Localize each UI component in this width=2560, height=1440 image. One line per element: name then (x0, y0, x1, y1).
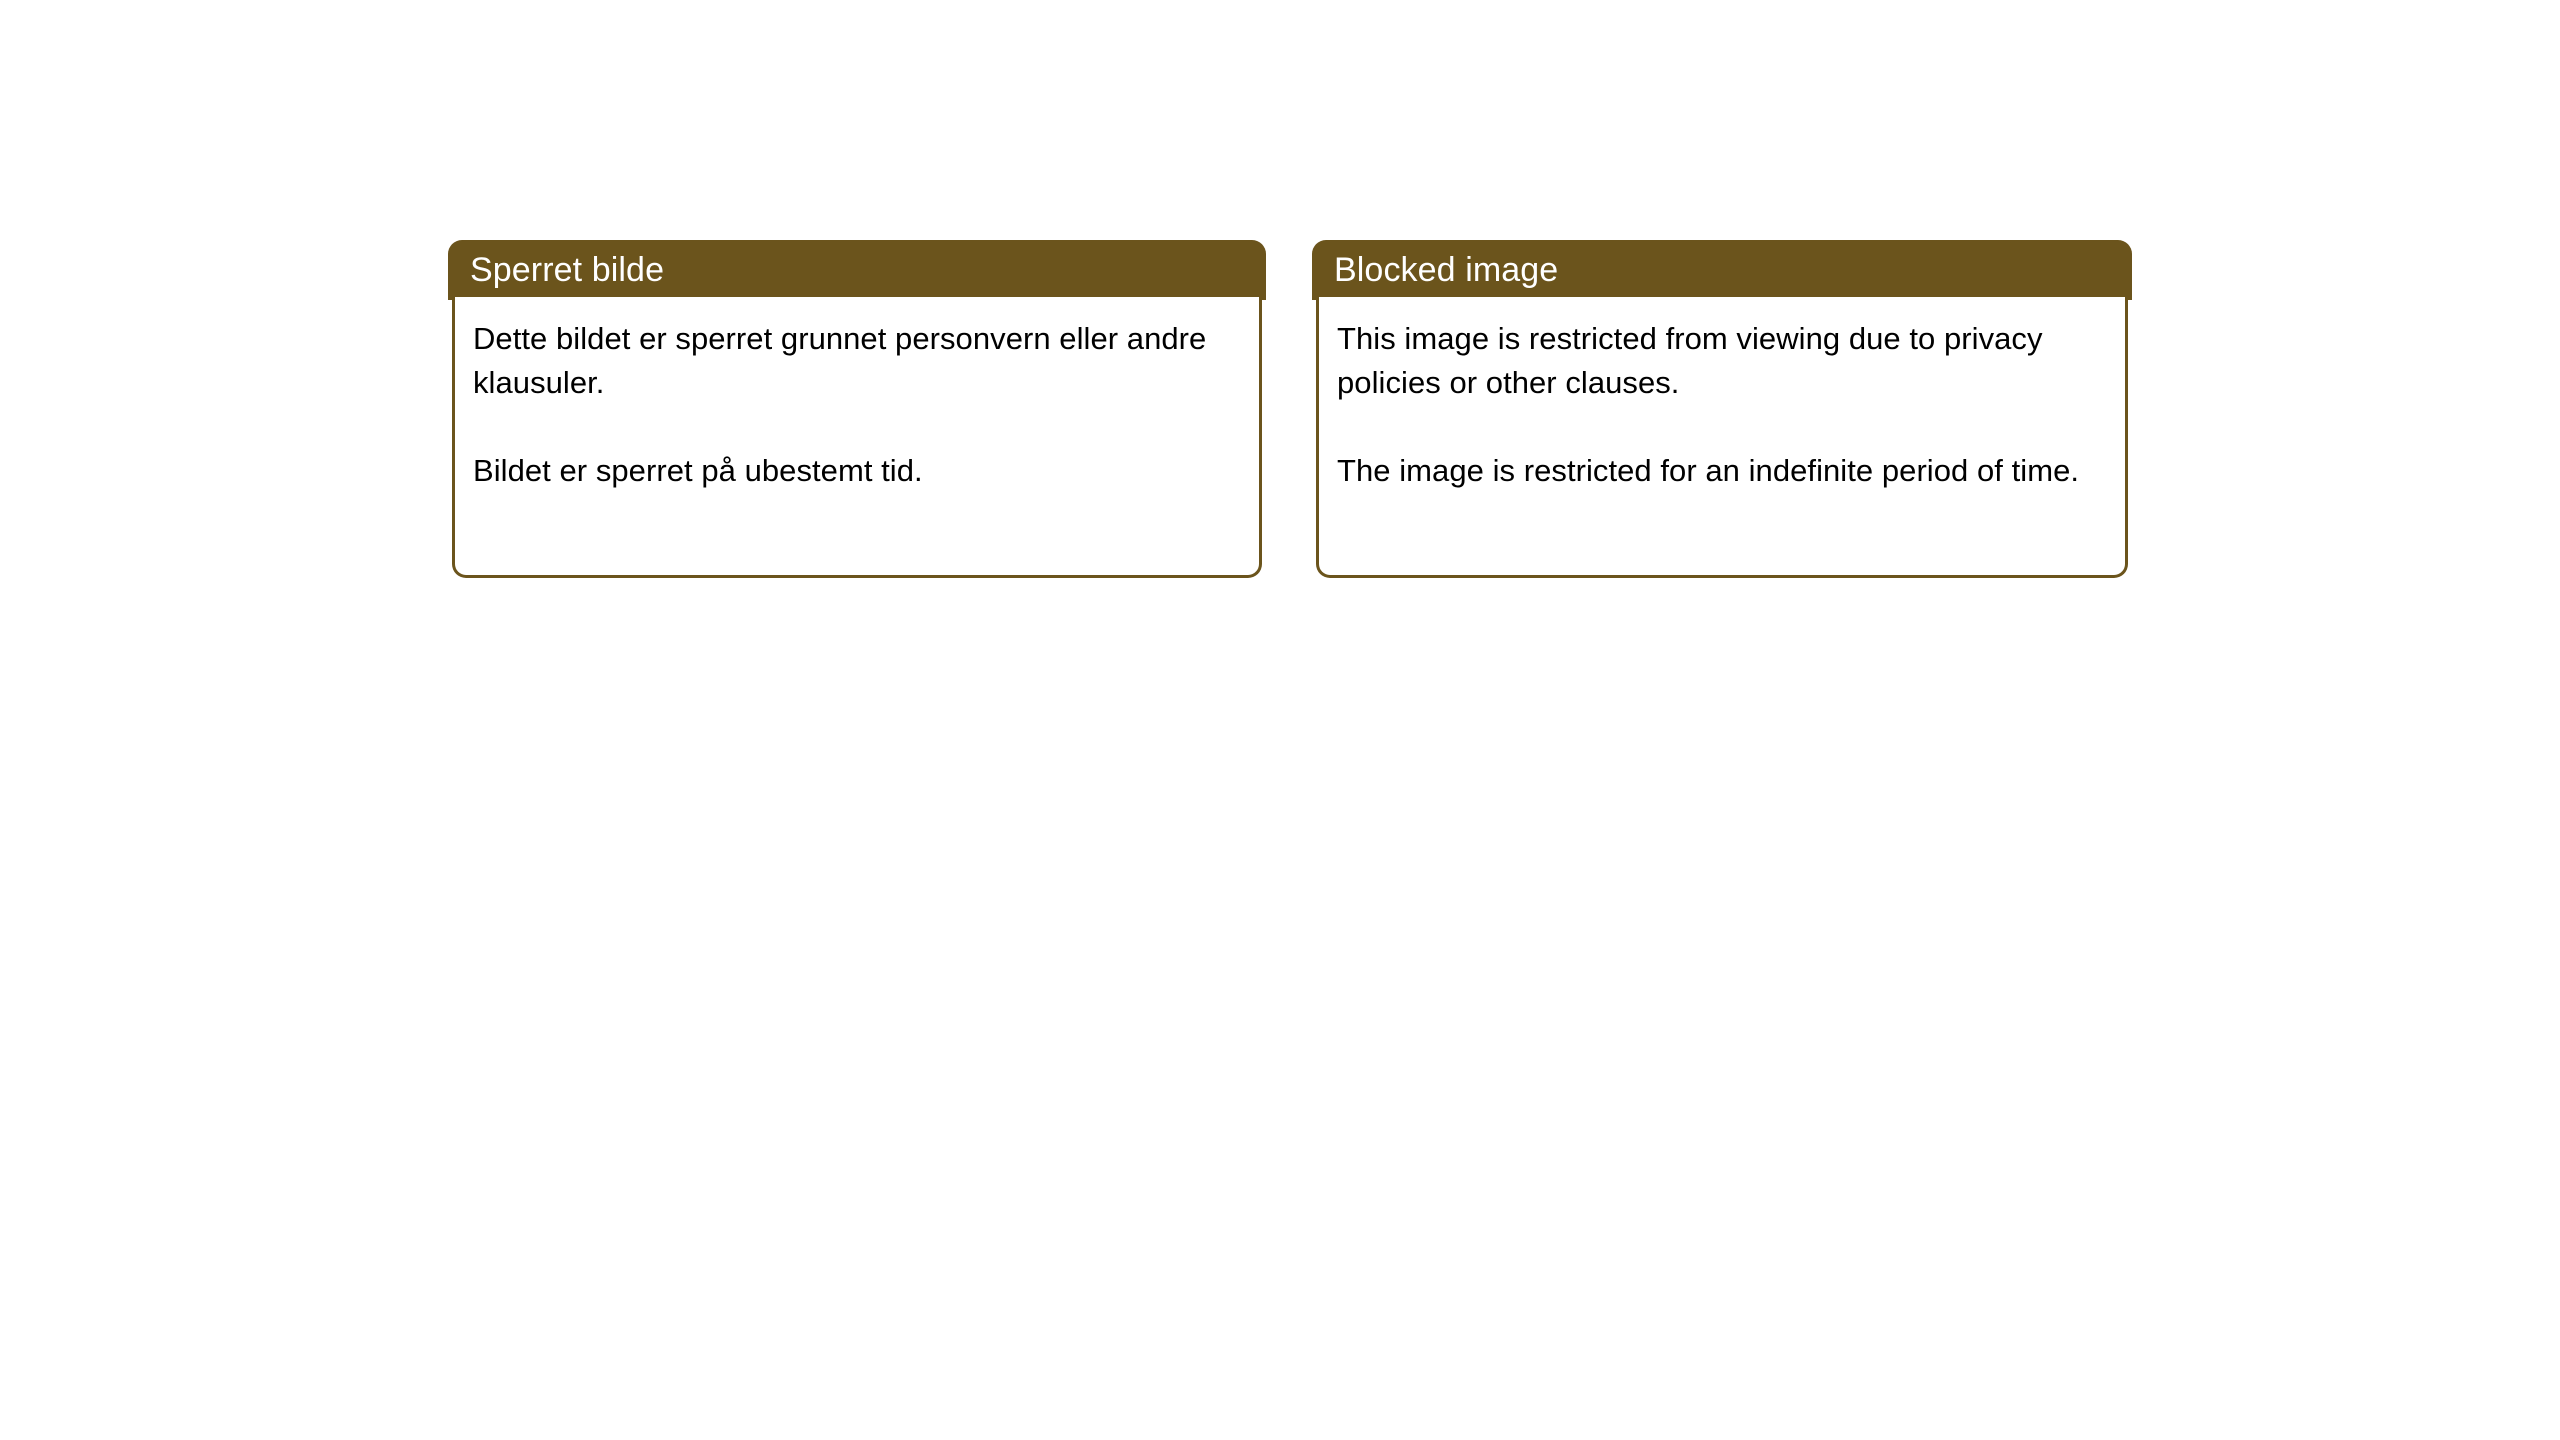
card-header-english: Blocked image (1312, 240, 2132, 300)
card-paragraph-secondary-norwegian: Bildet er sperret på ubestemt tid. (473, 449, 1241, 493)
card-paragraph-primary-english: This image is restricted from viewing du… (1337, 317, 2107, 405)
card-paragraph-secondary-english: The image is restricted for an indefinit… (1337, 449, 2107, 493)
blocked-image-notice-card-english: Blocked image This image is restricted f… (1312, 240, 2132, 578)
card-header-norwegian: Sperret bilde (448, 240, 1266, 300)
card-paragraph-primary-norwegian: Dette bildet er sperret grunnet personve… (473, 317, 1241, 405)
card-title-norwegian: Sperret bilde (448, 251, 664, 289)
paragraph-spacer-norwegian (473, 405, 1241, 449)
card-title-english: Blocked image (1312, 251, 1558, 289)
page-canvas: Sperret bilde Dette bildet er sperret gr… (0, 0, 2560, 1440)
card-body-english: This image is restricted from viewing du… (1316, 297, 2128, 578)
card-body-norwegian: Dette bildet er sperret grunnet personve… (452, 297, 1262, 578)
blocked-image-notice-card-norwegian: Sperret bilde Dette bildet er sperret gr… (448, 240, 1266, 578)
paragraph-spacer-english (1337, 405, 2107, 449)
